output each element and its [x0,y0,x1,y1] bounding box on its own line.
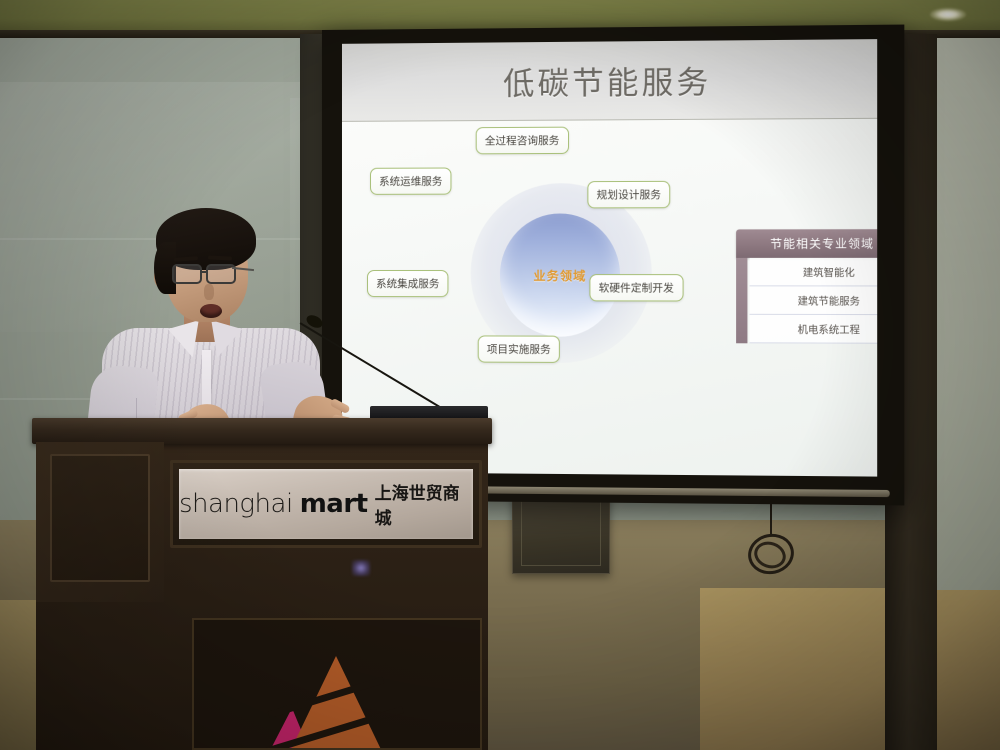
slide-title-band: 低碳节能服务 [342,39,877,122]
lectern: shanghaimart 上海世贸商城 [32,418,492,750]
lectern-side-inset [50,454,150,582]
right-glass-partition [937,38,1000,590]
diagram-node-top: 全过程咨询服务 [476,127,569,155]
lectern-side-panel [36,442,164,602]
presenter-mouth [200,304,222,318]
glasses-lens-left [172,264,202,284]
specialty-areas-header: 节能相关专业领域 [736,229,877,258]
presentation-photo-scene: 低碳节能服务 业务领域 全过程咨询服务 系统运维服务 规划设计服务 系统集成服务… [0,0,1000,750]
diagram-node-upper-left: 系统运维服务 [370,167,451,194]
lectern-led-indicator [352,560,370,576]
lectern-logo-panel [192,618,482,750]
presenter-nose [204,284,214,300]
loudspeaker-grille [521,500,601,566]
specialty-row-1: 建筑智能化 [750,258,878,287]
venue-brand-bold: mart [300,489,368,519]
wainscot-right [700,588,1000,750]
venue-sign-frame: shanghaimart 上海世贸商城 [170,460,482,548]
diagram-node-bottom: 项目实施服务 [478,335,560,362]
diagram-node-lower-right: 软硬件定制开发 [589,274,683,301]
ceiling-downlight [930,8,966,21]
diagram-node-lower-left: 系统集成服务 [367,270,448,297]
diagram-center-label: 业务领域 [533,267,586,284]
lectern-top-ledge [32,418,492,444]
specialty-row-2: 建筑节能服务 [750,286,878,315]
slide-title: 低碳节能服务 [503,57,711,104]
venue-brand-chinese: 上海世贸商城 [375,479,473,529]
venue-sign-plate: shanghaimart 上海世贸商城 [179,469,473,539]
specialty-areas-body: 建筑智能化 建筑节能服务 机电系统工程 [736,258,877,344]
specialty-areas-spine [736,258,747,343]
venue-brand-light: shanghai [179,489,293,519]
glasses-bridge [202,271,208,273]
diagram-node-upper-right: 规划设计服务 [587,181,670,209]
loudspeaker-cabinet [512,492,610,574]
specialty-row-3: 机电系统工程 [750,315,878,344]
specialty-areas-panel: 节能相关专业领域 建筑智能化 建筑节能服务 机电系统工程 [736,229,877,344]
